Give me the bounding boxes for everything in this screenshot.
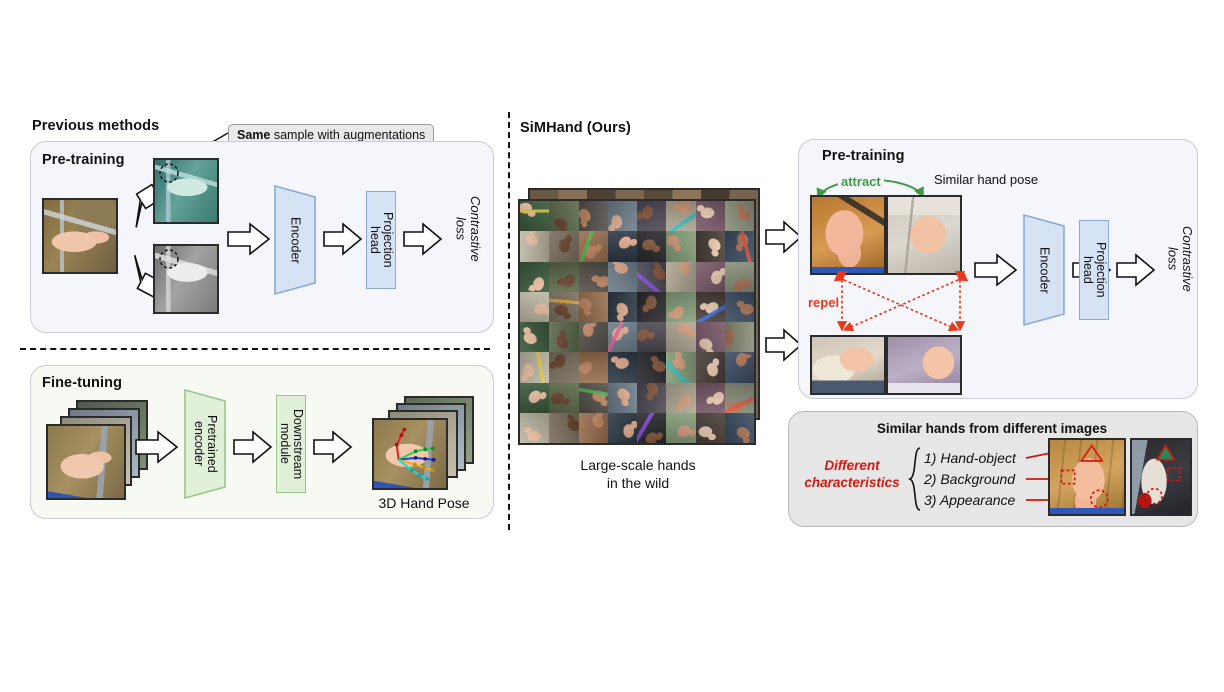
arrow-projection-to-loss-left [404,224,442,254]
left-panel-divider [20,348,490,350]
repel-label: repel [806,295,841,310]
mosaic-caption: Large-scale hands in the wild [540,456,736,492]
annotations-left-photo [1050,440,1124,514]
source-hand-photo [42,198,118,274]
curly-brace [908,446,922,512]
panel-divider [508,112,510,530]
augmentation-crop-circle-bottom [158,248,180,270]
negative-pair-photo-left [810,335,886,395]
arrow-to-encoder-left [228,224,270,254]
downstream-module-block: Downstream module [276,395,306,493]
positive-pair-photo-right [886,195,962,275]
arrow-projection-to-loss-right [1117,255,1155,285]
characteristic-item-2: 2) Background [924,471,1015,487]
arrow-mosaic-to-positive-pair [766,222,802,252]
left-finetuning-title: Fine-tuning [42,375,122,391]
left-panel-title: Previous methods [32,118,159,134]
arrow-to-encoder-right [975,255,1017,285]
characteristic-item-1: 1) Hand-object [924,450,1016,466]
augmentation-crop-circle-top [158,162,180,184]
callout-rest: sample with augmentations [270,128,425,142]
similar-hand-pose-label: Similar hand pose [934,172,1038,187]
negative-pair-photo-right [886,335,962,395]
hand-skeleton-overlay [374,420,446,488]
output-pose-photo [372,418,448,490]
arrow-mosaic-to-negative-pair [766,330,802,360]
mosaic-grid [518,199,756,445]
characteristics-photo-right [1130,438,1192,516]
encoder-label-left: Encoder [272,183,318,297]
input-stack-photo-1 [46,424,126,500]
pretrained-encoder-label: Pretrained encoder [182,387,228,501]
characteristic-item-3: 3) Appearance [924,492,1015,508]
characteristics-photo-left [1048,438,1126,516]
positive-pair-photo-left [810,195,886,275]
projection-head-block-right: Projection head [1079,220,1109,320]
projection-head-block-left: Projection head [366,191,396,289]
arrow-encoder-to-downstream [234,432,272,462]
arrow-downstream-to-output [314,432,352,462]
arrow-to-pretrained-encoder [136,432,178,462]
arrow-encoder-to-projection-left [324,224,362,254]
output-caption-3d-hand-pose: 3D Hand Pose [364,494,484,512]
right-pretraining-title: Pre-training [822,148,905,164]
different-characteristics-label: Different characteristics [796,458,908,492]
encoder-label-right: Encoder [1021,212,1067,328]
left-pretraining-title: Pre-training [42,152,125,168]
contrastive-loss-label-right: Contrastive loss [1162,226,1194,292]
attract-label: attract [838,174,884,189]
annotations-right-photo [1132,440,1190,513]
callout-strong: Same [237,128,270,142]
contrastive-loss-label-left: Contrastive loss [450,196,482,262]
right-panel-title: SiMHand (Ours) [520,120,631,136]
